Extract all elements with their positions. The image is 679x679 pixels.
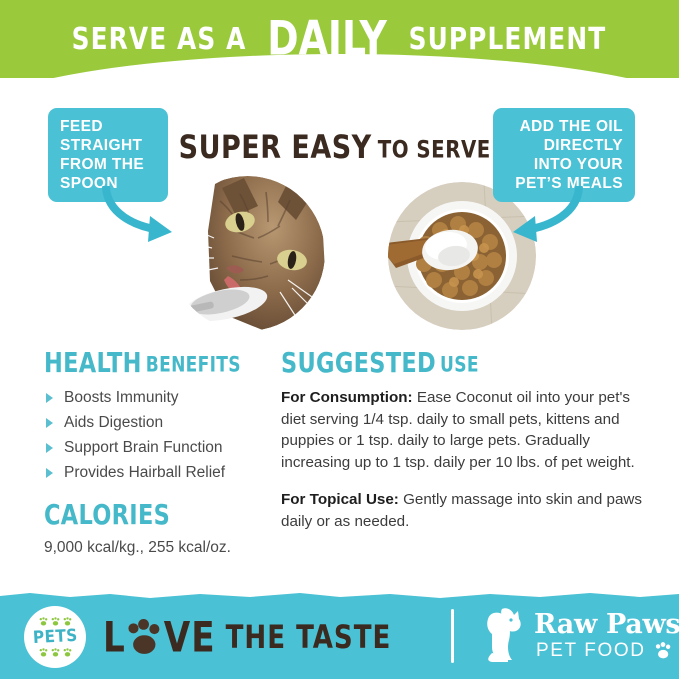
pets-badge-label: PETS [32,626,78,648]
suggested-use-title-big: SUGGESTED [281,346,436,378]
cat-licking-spoon-photo [170,176,325,331]
raw-paws-logo: Raw Paws® PET FOOD [478,607,663,667]
callout-feed-from-spoon: FEED STRAIGHT FROM THE SPOON [48,108,168,202]
tagline-love-rest: VE [164,613,216,661]
paw-print-icon [51,648,60,657]
footer-torn-edge [0,593,679,601]
benefit-label: Support Brain Function [64,439,223,456]
triangle-bullet-icon [46,393,53,403]
calories-title: CALORIES [44,500,294,529]
benefit-label: Provides Hairball Relief [64,464,225,481]
paw-print-icon [655,642,672,659]
suggested-use-section: SUGGESTEDUSE For Consumption: Ease Cocon… [281,348,651,532]
paw-print-icon [39,617,48,626]
brand-subtitle-text: PET FOOD [536,640,646,661]
brand-subtitle: PET FOOD [536,640,672,662]
callout-add-oil-to-meals: ADD THE OIL DIRECTLY INTO YOUR PET’S MEA… [493,108,635,202]
love-the-taste-tagline: L VE THE TASTE [103,612,391,662]
suggested-use-title: SUGGESTEDUSE [281,348,651,377]
callout-left-text: FEED STRAIGHT FROM THE SPOON [60,118,144,192]
topical-label: For Topical Use: [281,491,399,508]
callout-right-text: ADD THE OIL DIRECTLY INTO YOUR PET’S MEA… [515,118,623,192]
paw-print-icon [63,648,72,657]
health-benefits-section: HEALTHBENEFITS Boosts Immunity Aids Dige… [44,348,274,487]
suggested-use-title-small: USE [440,353,479,378]
pets-badge: PETS [24,606,86,668]
tagline-rest: THE TASTE [226,618,392,655]
paw-print-icon [51,617,60,626]
headline-part2: TO SERVE! [378,137,501,164]
header-title-part1: SERVE AS A [71,22,246,57]
header-banner: SERVE AS A DAILY SUPPLEMENT [0,0,679,78]
benefits-list: Boosts Immunity Aids Digestion Support B… [44,387,274,483]
dog-cat-silhouette-icon [478,607,534,665]
brand-name-text: Raw Paws [534,609,679,640]
triangle-bullet-icon [46,418,53,428]
consumption-paragraph: For Consumption: Ease Coconut oil into y… [281,387,651,473]
list-item: Aids Digestion [44,412,274,433]
list-item: Support Brain Function [44,437,274,458]
paw-print-icon [63,617,72,626]
list-item: Provides Hairball Relief [44,462,274,483]
tagline-love-l: L [103,613,126,661]
brand-name: Raw Paws® [534,609,679,640]
infographic-page: SERVE AS A DAILY SUPPLEMENT SUPER EASYTO… [0,0,679,679]
topical-paragraph: For Topical Use: Gently massage into ski… [281,489,651,532]
triangle-bullet-icon [46,468,53,478]
paw-print-icon [39,648,48,657]
footer-bar: PETS L VE THE TASTE [0,593,679,679]
triangle-bullet-icon [46,443,53,453]
benefit-label: Boosts Immunity [64,389,179,406]
calories-title-text: CALORIES [44,498,170,530]
paw-print-icon [127,619,163,655]
footer-divider [451,609,454,663]
calories-value: 9,000 kcal/kg., 255 kcal/oz. [44,537,294,558]
health-benefits-title: HEALTHBENEFITS [44,348,274,377]
list-item: Boosts Immunity [44,387,274,408]
calories-section: CALORIES 9,000 kcal/kg., 255 kcal/oz. [44,500,294,558]
paw-row-bottom [39,648,72,657]
consumption-label: For Consumption: [281,389,413,406]
paw-row-top [39,617,72,626]
kibble-bowl-with-coconut-oil-spoon-photo [388,182,536,330]
benefit-label: Aids Digestion [64,414,163,431]
headline-part1: SUPER EASY [179,129,372,167]
health-benefits-title-big: HEALTH [44,346,142,378]
health-benefits-title-small: BENEFITS [146,353,241,378]
header-title-part2: SUPPLEMENT [409,22,607,57]
